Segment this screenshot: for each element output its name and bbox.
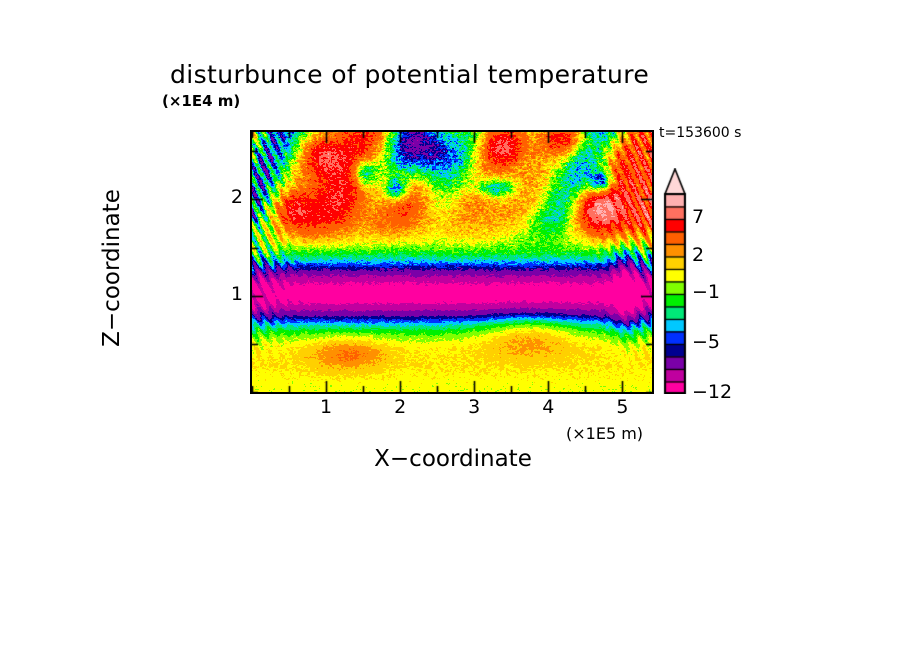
chart-title: disturbunce of potential temperature [170,60,770,89]
y-axis-unit-label: (×1E4 m) [162,92,240,110]
x-tick-label: 1 [306,396,346,418]
x-tick-label: 4 [528,396,568,418]
plot-area [252,132,652,392]
colorbar [663,168,687,394]
x-tick-label: 5 [602,396,642,418]
y-axis-label: Z−coordinate [99,148,125,388]
x-tick-label: 3 [454,396,494,418]
x-axis-label: X−coordinate [253,446,653,472]
figure-canvas: disturbunce of potential temperature (×1… [0,0,904,654]
colorbar-tick-label: −5 [692,331,720,353]
colorbar-tick-label: −1 [692,281,720,303]
contour-field [252,132,652,392]
colorbar-tick-label: 7 [692,206,704,228]
y-tick-label: 1 [203,283,243,305]
colorbar-tick-label: −12 [692,381,732,403]
colorbar-swatches [663,168,687,394]
x-tick-label: 2 [380,396,420,418]
timestamp-annotation: t=153600 s [659,125,741,141]
y-tick-label: 2 [203,186,243,208]
x-axis-unit-label: (×1E5 m) [566,424,643,443]
colorbar-tick-label: 2 [692,244,704,266]
